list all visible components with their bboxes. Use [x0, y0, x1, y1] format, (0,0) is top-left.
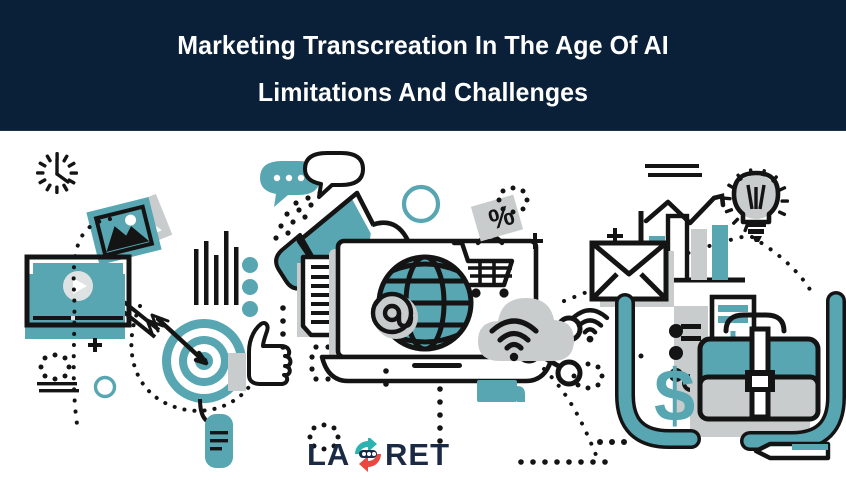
video-player-icon	[25, 257, 129, 339]
circle-outline-icon	[404, 187, 438, 221]
circle-outline-icon	[96, 378, 115, 397]
discount-tag-icon: %	[471, 195, 523, 242]
pen-icon	[756, 444, 828, 458]
plus-marker-icon	[88, 338, 102, 352]
promo-banner: Marketing Transcreation In The Age Of AI…	[0, 0, 846, 498]
equals-lines-icon	[645, 164, 702, 177]
brand-logo[interactable]: LA RET	[305, 437, 455, 473]
page-title-line-2: Limitations And Challenges	[258, 79, 588, 105]
dollar-sign-icon: $	[654, 354, 695, 437]
lightbulb-icon	[723, 168, 789, 242]
page-title-line-1: Marketing Transcreation In The Age Of AI	[177, 32, 669, 58]
svg-text:$: $	[654, 354, 695, 437]
briefcase-icon	[690, 315, 818, 437]
dotted-connector	[280, 305, 286, 350]
clock-icon	[36, 152, 78, 194]
banner-header: Marketing Transcreation In The Age Of AI…	[0, 0, 846, 131]
dotted-connector	[752, 237, 812, 293]
dotted-circle-icon	[572, 362, 605, 391]
logo-text-right: RET	[385, 438, 450, 472]
logo-text-left: LA	[307, 438, 350, 472]
bar-chart-small-icon	[194, 231, 239, 305]
refresh-circle-icon	[355, 438, 381, 472]
dotted-connector	[518, 439, 627, 465]
dot-column	[242, 257, 258, 317]
